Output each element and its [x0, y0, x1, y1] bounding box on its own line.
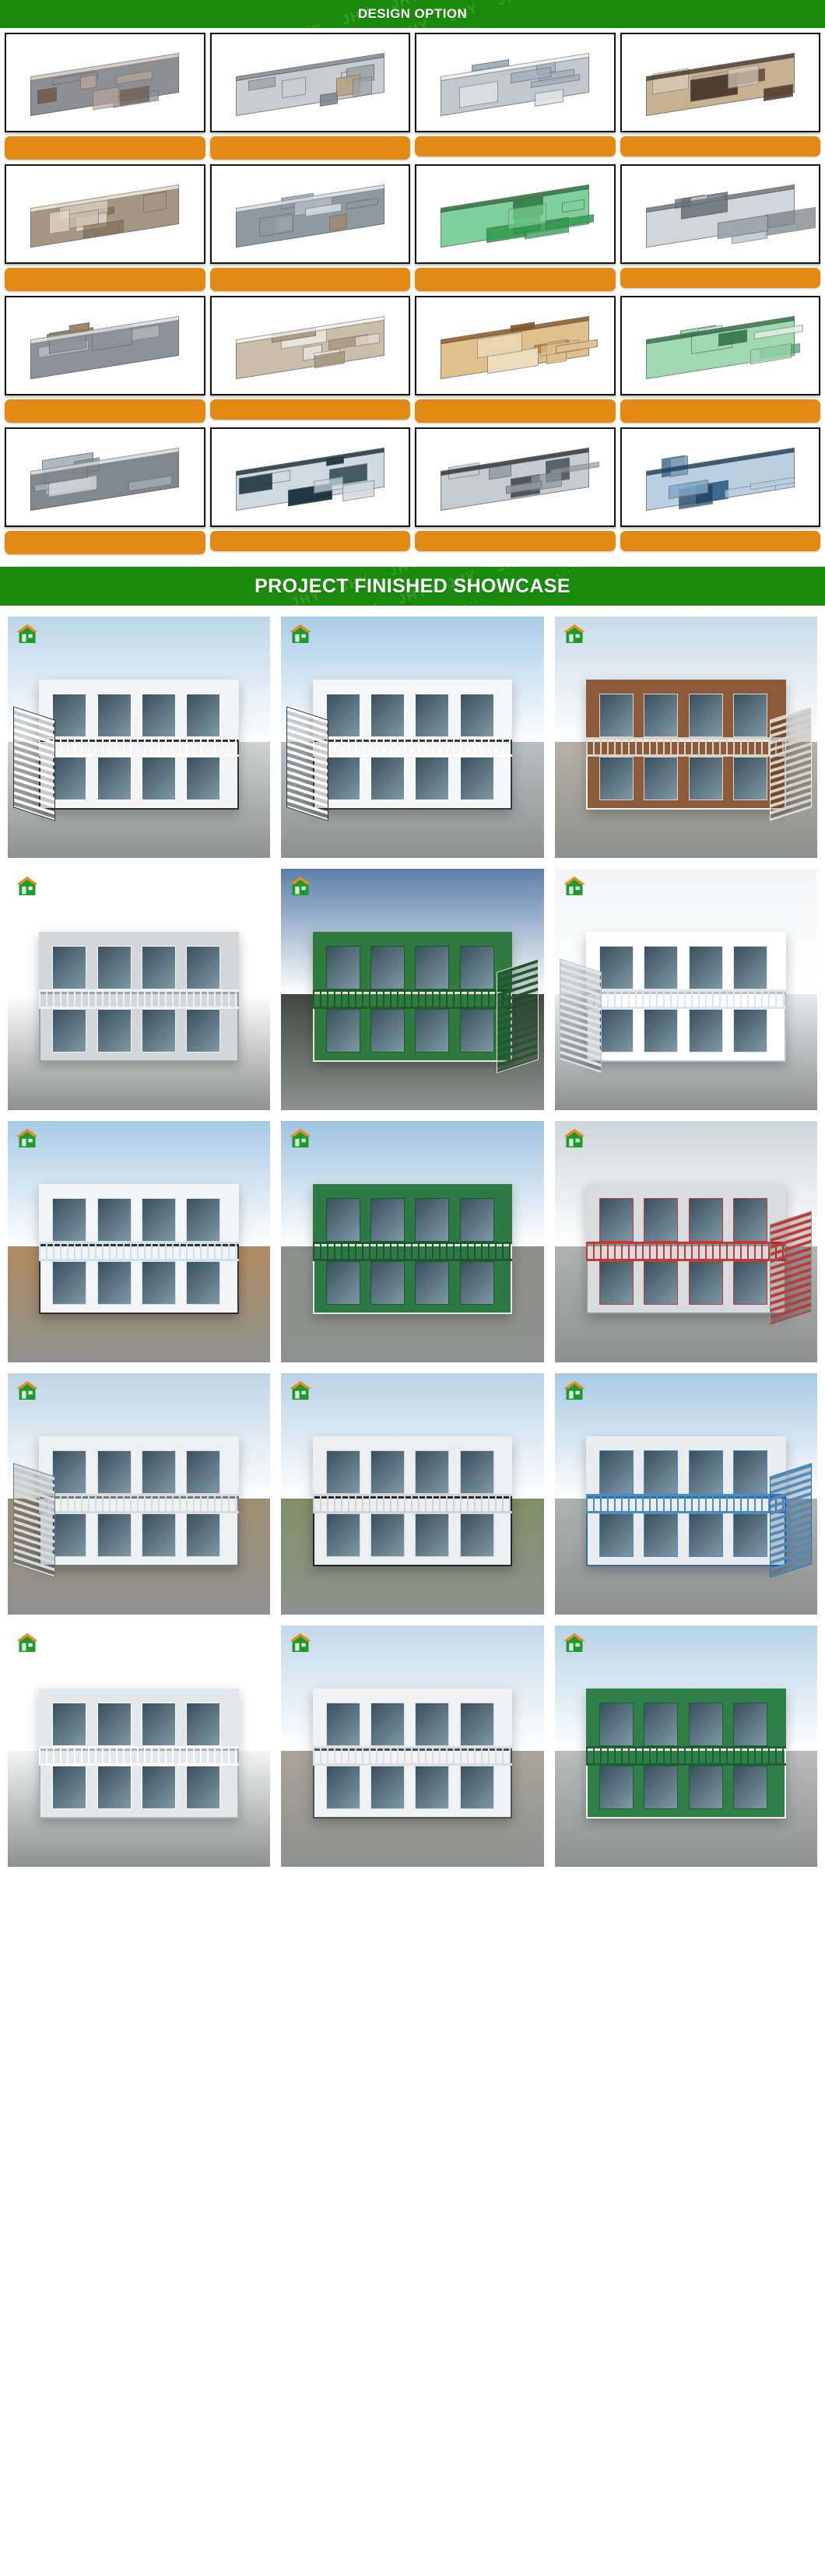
window [644, 694, 678, 737]
design-option-label [210, 531, 411, 551]
window [644, 1450, 678, 1494]
window [460, 1198, 494, 1242]
window [142, 1513, 176, 1557]
design-option-label [620, 268, 821, 288]
window [370, 1703, 405, 1746]
design-option-label-wrap [210, 531, 411, 551]
design-option-card[interactable] [5, 296, 205, 423]
window [326, 694, 360, 737]
design-option-label [210, 268, 411, 291]
window [415, 1198, 449, 1242]
design-option-label-wrap [210, 136, 411, 160]
window [689, 1513, 723, 1557]
design-option-thumbnail[interactable] [210, 427, 411, 527]
project-photo[interactable] [8, 1373, 270, 1615]
design-option-label [210, 136, 411, 160]
design-option-thumbnail[interactable] [620, 33, 821, 132]
window [599, 1450, 634, 1494]
window [326, 1009, 360, 1053]
design-option-card[interactable] [5, 33, 205, 160]
design-option-grid [0, 28, 825, 556]
design-option-label-wrap [620, 268, 821, 288]
window [599, 694, 634, 737]
window [644, 757, 678, 800]
window [97, 1198, 132, 1242]
render-2bed-twin-beds-image [229, 442, 391, 511]
project-photo[interactable] [281, 869, 543, 1110]
project-photo[interactable] [8, 1625, 270, 1867]
window [52, 1261, 86, 1305]
floorplan-1bed-1bath-white-image [434, 47, 596, 117]
window [733, 1198, 767, 1242]
window [733, 946, 767, 989]
window [326, 1450, 360, 1494]
render-1bed-blue-bunk-image [639, 442, 801, 511]
window [733, 1009, 767, 1053]
floorplan-2unit-living-2bed-kitchen-image [24, 311, 186, 380]
window [52, 694, 86, 737]
design-option-card[interactable] [210, 427, 411, 554]
design-option-label-wrap [5, 268, 205, 291]
window [689, 1261, 723, 1305]
company-house-logo-icon [563, 623, 586, 645]
window [689, 694, 723, 737]
design-option-title: DESIGN OPTION [358, 6, 467, 22]
render-2unit-wood-interior-image [434, 311, 596, 380]
render-medical-green-image [434, 179, 596, 248]
window [97, 1513, 132, 1557]
company-house-logo-icon [16, 623, 39, 645]
design-option-thumbnail[interactable] [415, 33, 616, 132]
window [415, 1450, 449, 1494]
window [52, 1450, 86, 1494]
design-option-label [620, 136, 821, 156]
catalog-page: JHY JHY JHY JHY JHY JHY JHY JHY JHY JHY … [0, 0, 825, 1881]
company-house-logo-icon [563, 875, 586, 897]
external-staircase [770, 1211, 812, 1326]
window [186, 946, 220, 989]
window [644, 1703, 678, 1746]
design-option-label [415, 531, 616, 551]
design-option-label-wrap [415, 268, 616, 291]
design-option-label [5, 531, 205, 554]
external-staircase [13, 1463, 55, 1578]
design-option-label [5, 136, 205, 160]
window [97, 694, 132, 737]
window [370, 946, 405, 989]
window [460, 1766, 494, 1809]
window [97, 1009, 132, 1053]
balcony-railing [39, 989, 238, 1009]
floorplan-3unit-dormitory-image [229, 47, 391, 117]
window [370, 1766, 405, 1809]
design-option-card[interactable] [210, 296, 411, 423]
design-option-label [5, 399, 205, 423]
balcony-railing [313, 1494, 512, 1513]
window [142, 1261, 176, 1305]
design-option-label-wrap [620, 136, 821, 156]
floorplan-3unit-living-2bed-image [229, 179, 391, 248]
window [733, 1766, 767, 1809]
window [326, 1513, 360, 1557]
company-house-logo-icon [289, 1379, 312, 1401]
window [599, 1261, 634, 1305]
design-option-card[interactable] [5, 427, 205, 554]
company-house-logo-icon [563, 1379, 586, 1401]
window [689, 1703, 723, 1746]
balcony-railing [313, 1746, 512, 1766]
company-house-logo-icon [563, 1632, 586, 1653]
design-option-label-wrap [5, 136, 205, 160]
balcony-railing [39, 1242, 238, 1261]
external-staircase [13, 706, 55, 821]
external-staircase [770, 706, 812, 821]
window [186, 1009, 220, 1053]
design-option-thumbnail[interactable] [620, 164, 821, 264]
window [186, 1703, 220, 1746]
project-photo[interactable] [555, 869, 817, 1110]
window [142, 946, 176, 989]
window [733, 1703, 767, 1746]
window [370, 1198, 405, 1242]
design-option-label-wrap [415, 136, 616, 156]
company-house-logo-icon [289, 875, 312, 897]
window [142, 1766, 176, 1809]
design-option-label-wrap [620, 399, 821, 423]
window [370, 1513, 405, 1557]
design-option-thumbnail[interactable] [5, 33, 205, 132]
external-staircase [560, 958, 602, 1074]
window [733, 757, 767, 800]
design-option-card[interactable] [210, 164, 411, 291]
window [52, 1513, 86, 1557]
design-option-thumbnail[interactable] [5, 296, 205, 395]
design-option-card[interactable] [620, 296, 821, 423]
project-photo[interactable] [555, 1373, 817, 1615]
window [733, 1261, 767, 1305]
design-option-label [210, 399, 411, 420]
balcony-railing [313, 1242, 512, 1261]
design-option-label-wrap [415, 531, 616, 551]
window [97, 1766, 132, 1809]
window [370, 1450, 405, 1494]
balcony-railing [313, 989, 512, 1009]
design-option-thumbnail[interactable] [620, 296, 821, 395]
project-photo[interactable] [281, 1373, 543, 1615]
design-option-label [415, 268, 616, 291]
window [186, 1450, 220, 1494]
window [460, 1009, 494, 1053]
balcony-railing [586, 1746, 785, 1766]
window [733, 1450, 767, 1494]
window [415, 1766, 449, 1809]
window [415, 1261, 449, 1305]
balcony-railing [586, 1242, 785, 1261]
render-1bed-1bath-grey-image [639, 179, 801, 248]
window [142, 694, 176, 737]
design-option-label-wrap [415, 399, 616, 423]
design-option-thumbnail[interactable] [210, 296, 411, 395]
design-option-thumbnail[interactable] [620, 427, 821, 527]
balcony-railing [313, 737, 512, 757]
window [733, 694, 767, 737]
window [52, 1198, 86, 1242]
project-photo[interactable] [555, 1121, 817, 1362]
window [186, 1766, 220, 1809]
window [460, 757, 494, 800]
design-option-label [415, 136, 616, 156]
design-option-label [415, 399, 616, 423]
window [326, 1703, 360, 1746]
window [186, 1261, 220, 1305]
window [186, 757, 220, 800]
window [460, 694, 494, 737]
window [52, 757, 86, 800]
project-photo[interactable] [281, 617, 543, 858]
design-option-label-wrap [620, 531, 821, 551]
company-house-logo-icon [289, 1632, 312, 1653]
window [460, 1261, 494, 1305]
window [689, 1450, 723, 1494]
external-staircase [286, 706, 328, 821]
window [644, 946, 678, 989]
design-option-card[interactable] [620, 164, 821, 291]
project-photo[interactable] [555, 617, 817, 858]
window [186, 1513, 220, 1557]
window [689, 1198, 723, 1242]
window [415, 1009, 449, 1053]
company-house-logo-icon [289, 623, 312, 645]
window [599, 946, 634, 989]
window [326, 757, 360, 800]
window [599, 1513, 634, 1557]
design-option-card[interactable] [415, 296, 616, 423]
window [370, 1009, 405, 1053]
design-option-thumbnail[interactable] [415, 296, 616, 395]
project-photo[interactable] [8, 617, 270, 858]
window [689, 757, 723, 800]
balcony-railing [586, 989, 785, 1009]
window [689, 946, 723, 989]
external-staircase [497, 958, 539, 1074]
window [689, 1766, 723, 1809]
company-house-logo-icon [563, 1127, 586, 1149]
window [142, 757, 176, 800]
design-option-card[interactable] [620, 33, 821, 160]
design-option-card[interactable] [415, 164, 616, 291]
window [644, 1009, 678, 1053]
window [460, 1703, 494, 1746]
window [142, 1450, 176, 1494]
balcony-railing [39, 1494, 238, 1513]
external-staircase [770, 1463, 812, 1578]
floorplan-2unit-2bed-bath-kitchen-image [24, 179, 186, 248]
window [644, 1766, 678, 1809]
window [142, 1703, 176, 1746]
design-option-card[interactable] [415, 33, 616, 160]
company-house-logo-icon [16, 875, 39, 897]
window [460, 946, 494, 989]
balcony-railing [39, 1746, 238, 1766]
window [689, 1009, 723, 1053]
company-house-logo-icon [16, 1127, 39, 1149]
design-option-card[interactable] [620, 427, 821, 554]
window [370, 1261, 405, 1305]
company-house-logo-icon [16, 1632, 39, 1653]
design-option-label-wrap [210, 268, 411, 291]
floorplan-2unit-full-image [24, 442, 186, 511]
project-photo[interactable] [555, 1625, 817, 1867]
project-photo-grid [0, 606, 825, 1881]
company-house-logo-icon [289, 1127, 312, 1149]
balcony-railing [586, 737, 785, 757]
window [370, 757, 405, 800]
window [142, 1009, 176, 1053]
window [460, 1450, 494, 1494]
window [326, 1261, 360, 1305]
window [599, 1703, 634, 1746]
design-option-thumbnail[interactable] [5, 427, 205, 527]
window [415, 694, 449, 737]
design-option-banner: JHY JHY JHY JHY JHY JHY JHY JHY JHY JHY … [0, 0, 825, 28]
render-1bed-1bath-wood-image [639, 47, 801, 117]
floorplan-2unit-living-bed-bath-image [24, 47, 186, 117]
window [97, 1703, 132, 1746]
window [644, 1198, 678, 1242]
window [52, 1766, 86, 1809]
window [326, 1766, 360, 1809]
window [599, 1766, 634, 1809]
design-option-label [620, 399, 821, 423]
window [52, 1009, 86, 1053]
window [599, 1198, 634, 1242]
window [52, 946, 86, 989]
window [370, 694, 405, 737]
window [186, 1198, 220, 1242]
project-showcase-title: PROJECT FINISHED SHOWCASE [255, 575, 570, 598]
window [599, 757, 634, 800]
window [52, 1703, 86, 1746]
window [97, 1261, 132, 1305]
window [326, 946, 360, 989]
design-option-thumbnail[interactable] [415, 164, 616, 264]
project-photo[interactable] [281, 1121, 543, 1362]
render-2unit-green-interior-image [639, 311, 801, 380]
project-photo[interactable] [8, 869, 270, 1110]
company-house-logo-icon [16, 1379, 39, 1401]
window [326, 1198, 360, 1242]
window [142, 1198, 176, 1242]
window [415, 1513, 449, 1557]
design-option-label [5, 268, 205, 291]
project-photo[interactable] [8, 1121, 270, 1362]
design-option-label [620, 531, 821, 551]
window [644, 1261, 678, 1305]
project-photo[interactable] [281, 1625, 543, 1867]
design-option-thumbnail[interactable] [5, 164, 205, 264]
window [97, 757, 132, 800]
render-2bed-1bath-cream-image [229, 311, 391, 380]
window [415, 946, 449, 989]
design-option-thumbnail[interactable] [415, 427, 616, 527]
design-option-thumbnail[interactable] [210, 164, 411, 264]
design-option-card[interactable] [415, 427, 616, 554]
window [97, 1450, 132, 1494]
window [733, 1513, 767, 1557]
design-option-label-wrap [5, 531, 205, 554]
render-1bed-office-desk-image [434, 442, 596, 511]
project-showcase-banner: JHY JHY JHY JHY JHY JHY JHY JHY JHY JHY … [0, 567, 825, 606]
window [644, 1513, 678, 1557]
window [599, 1009, 634, 1053]
window [460, 1513, 494, 1557]
design-option-thumbnail[interactable] [210, 33, 411, 132]
design-option-card[interactable] [5, 164, 205, 291]
window [415, 1703, 449, 1746]
design-option-label-wrap [210, 399, 411, 420]
design-option-card[interactable] [210, 33, 411, 160]
window [186, 694, 220, 737]
design-option-label-wrap [5, 399, 205, 423]
balcony-railing [586, 1494, 785, 1513]
window [97, 946, 132, 989]
balcony-railing [39, 737, 238, 757]
window [415, 757, 449, 800]
